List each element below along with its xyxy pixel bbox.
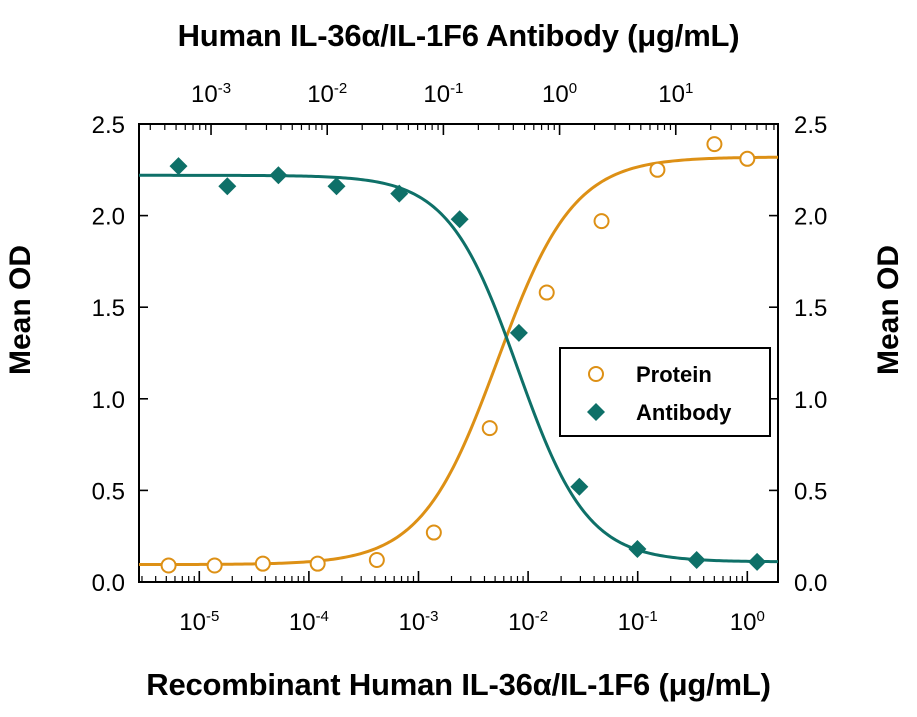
data-point-antibody <box>218 177 236 195</box>
data-point-protein <box>483 421 497 435</box>
x-bottom-axis-tick-label: 10-2 <box>508 608 548 636</box>
y-tick-label-left: 0.5 <box>92 478 125 505</box>
data-point-antibody <box>570 478 588 496</box>
data-point-antibody <box>748 553 766 571</box>
data-point-protein <box>311 557 325 571</box>
data-point-protein <box>370 553 384 567</box>
x-top-axis-tick-label: 10-2 <box>307 80 347 108</box>
x-top-axis-tick-label: 10-3 <box>191 80 231 108</box>
y-tick-label-left: 2.0 <box>92 204 125 231</box>
y-tick-label-right: 2.5 <box>794 112 827 139</box>
data-point-protein <box>740 152 754 166</box>
y-tick-label-right: 0.5 <box>794 478 827 505</box>
data-point-protein <box>540 286 554 300</box>
x-bottom-axis-tick-label: 10-3 <box>398 608 438 636</box>
data-point-antibody <box>510 324 528 342</box>
data-point-protein <box>162 559 176 573</box>
y-tick-label-left: 2.5 <box>92 112 125 139</box>
chart-page: Human IL-36α/IL-1F6 Antibody (μg/mL) Rec… <box>0 0 917 717</box>
data-point-protein <box>650 163 664 177</box>
x-bottom-axis-tick-label: 100 <box>730 608 765 636</box>
y-tick-label-right: 1.5 <box>794 295 827 322</box>
x-top-axis-tick-label: 10-1 <box>423 80 463 108</box>
y-tick-label-right: 1.0 <box>794 387 827 414</box>
y-tick-label-right: 0.0 <box>794 570 827 597</box>
plot-canvas: 0.00.00.50.51.01.01.51.52.02.02.52.510-5… <box>0 0 917 717</box>
data-point-antibody <box>390 185 408 203</box>
legend-marker-protein <box>589 367 603 381</box>
data-point-antibody <box>170 157 188 175</box>
data-point-protein <box>707 137 721 151</box>
legend-label-protein: Protein <box>636 362 712 387</box>
x-top-axis-tick-label: 100 <box>542 80 577 108</box>
legend-label-antibody: Antibody <box>636 400 732 425</box>
y-tick-label-left: 0.0 <box>92 570 125 597</box>
x-top-axis-tick-label: 101 <box>658 80 693 108</box>
data-point-antibody <box>269 166 287 184</box>
data-point-protein <box>595 214 609 228</box>
y-tick-label-right: 2.0 <box>794 204 827 231</box>
data-point-protein <box>256 557 270 571</box>
data-point-protein <box>208 559 222 573</box>
x-bottom-axis-tick-label: 10-4 <box>289 608 329 636</box>
x-bottom-axis-tick-label: 10-1 <box>618 608 658 636</box>
x-bottom-axis-tick-label: 10-5 <box>179 608 219 636</box>
y-tick-label-left: 1.0 <box>92 387 125 414</box>
data-point-antibody <box>328 177 346 195</box>
data-point-antibody <box>688 551 706 569</box>
y-tick-label-left: 1.5 <box>92 295 125 322</box>
data-point-protein <box>427 526 441 540</box>
data-point-antibody <box>628 540 646 558</box>
